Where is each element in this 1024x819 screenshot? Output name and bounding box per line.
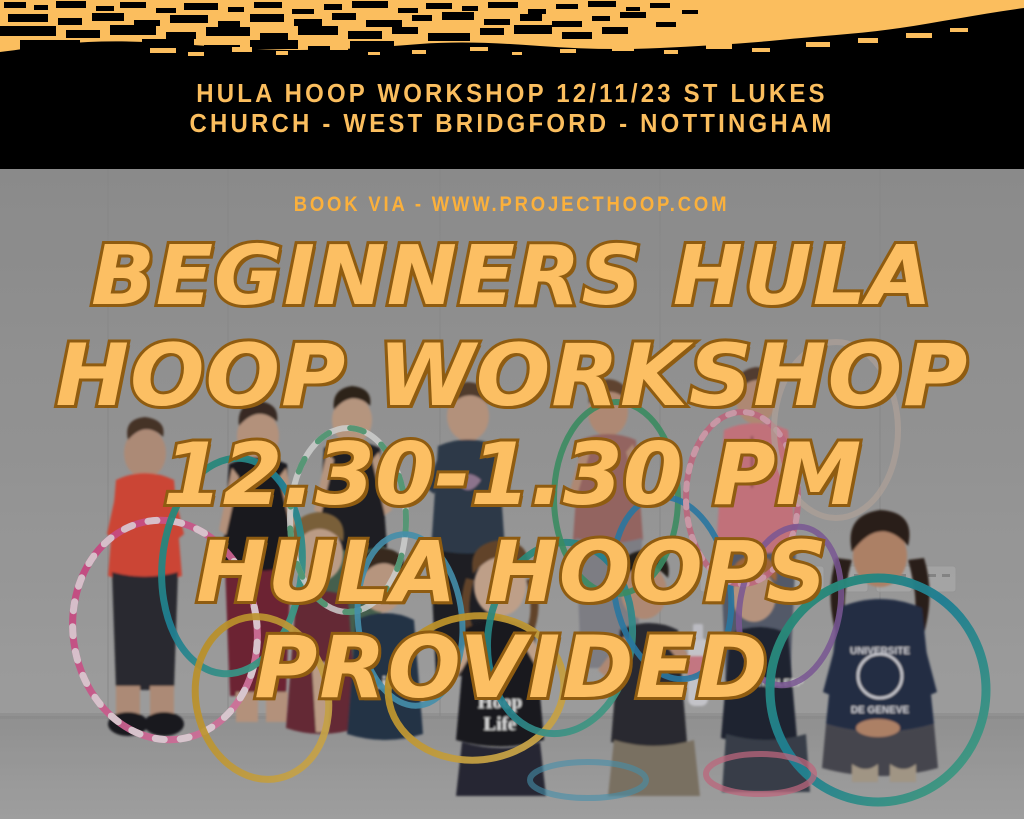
booking-line[interactable]: BOOK VIA - WWW.PROJECTHOOP.COM — [0, 193, 1024, 217]
header-bar: HULA HOOP WORKSHOP 12/11/23 ST LUKES CHU… — [0, 0, 1024, 169]
poster-canvas: Life Hoop Life — [0, 0, 1024, 819]
header-line-1: HULA HOOP WORKSHOP 12/11/23 ST LUKES — [31, 79, 994, 109]
booking-url-text[interactable]: BOOK VIA - WWW.PROJECTHOOP.COM — [294, 193, 730, 217]
header-title-block: HULA HOOP WORKSHOP 12/11/23 ST LUKES CHU… — [0, 79, 1024, 139]
grunge-brush-edge — [0, 0, 1024, 62]
background-photo: Life Hoop Life — [0, 168, 1024, 819]
header-line-2: CHURCH - WEST BRIDGFORD - NOTTINGHAM — [31, 109, 994, 139]
